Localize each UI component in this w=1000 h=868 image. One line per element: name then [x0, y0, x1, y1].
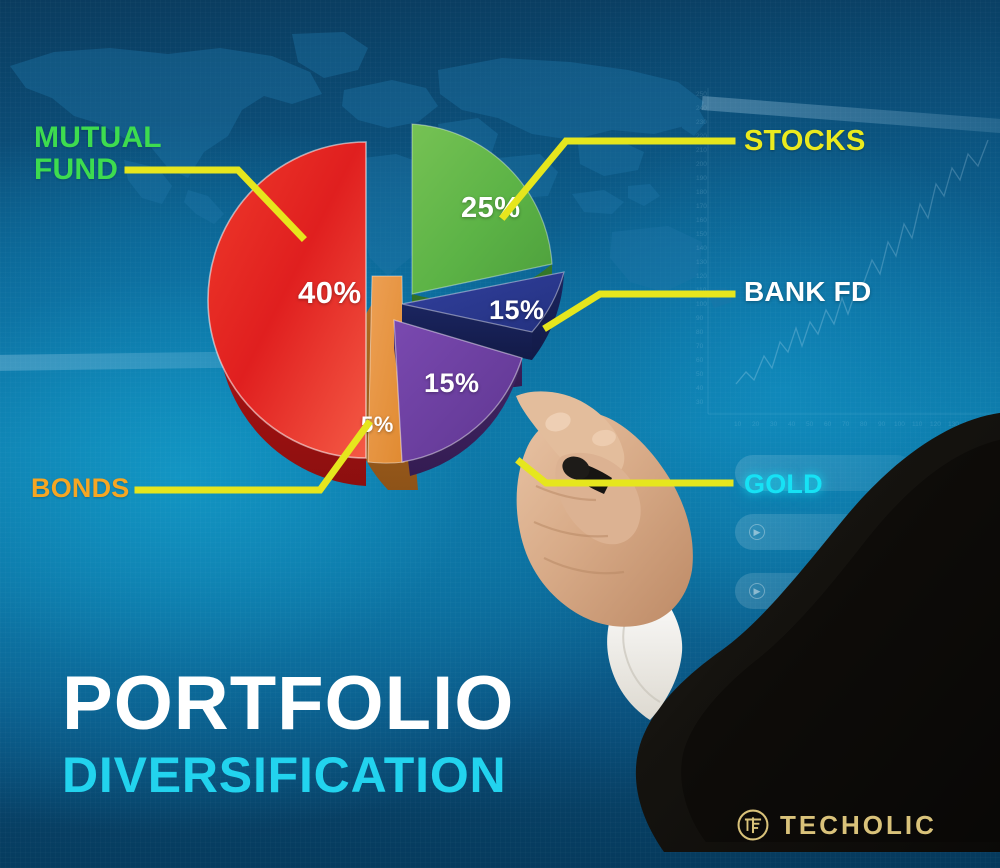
chevron-right-icon: ▶ — [749, 583, 765, 599]
svg-text:90: 90 — [878, 421, 886, 428]
brand-name: TECHOLIC — [780, 810, 937, 841]
svg-text:90: 90 — [696, 315, 704, 322]
svg-text:40: 40 — [788, 421, 796, 428]
svg-text:110: 110 — [696, 287, 707, 294]
svg-text:60: 60 — [696, 357, 704, 364]
ghost-panel-row: ▶ — [735, 514, 915, 550]
ghost-panel-row: ▶ — [735, 573, 915, 609]
svg-text:210: 210 — [696, 147, 707, 154]
callout-label-bank-fd: BANK FD — [744, 277, 871, 307]
callout-label-mutual-fund: MUTUAL FUND — [34, 122, 162, 186]
svg-text:190: 190 — [696, 175, 707, 182]
chevron-right-icon: ▶ — [749, 642, 765, 658]
infographic-canvas: 250240230 220210200 190180170 160150140 … — [0, 0, 1000, 868]
ghost-panel-row: ▶ — [735, 632, 915, 668]
svg-text:80: 80 — [696, 329, 704, 336]
svg-text:250: 250 — [696, 91, 707, 98]
callout-label-gold: GOLD — [744, 470, 823, 499]
svg-text:100: 100 — [894, 421, 905, 428]
pie-slice-mutual-fund — [208, 142, 366, 486]
headline-block: PORTFOLIO DIVERSIFICATION — [62, 666, 514, 800]
svg-text:130: 130 — [948, 421, 959, 428]
svg-text:110: 110 — [912, 421, 923, 428]
svg-text:240: 240 — [696, 105, 707, 112]
svg-text:130: 130 — [696, 259, 707, 266]
pie-chart — [190, 118, 610, 518]
headline-sub: DIVERSIFICATION — [62, 750, 514, 800]
svg-text:20: 20 — [752, 421, 760, 428]
svg-text:180: 180 — [696, 189, 707, 196]
svg-text:170: 170 — [696, 203, 707, 210]
callout-label-mutual-fund-line1: MUTUAL — [34, 122, 162, 154]
svg-text:50: 50 — [696, 371, 704, 378]
svg-text:200: 200 — [696, 161, 707, 168]
svg-text:140: 140 — [964, 421, 975, 428]
callout-label-bonds: BONDS — [31, 474, 130, 503]
svg-text:70: 70 — [696, 343, 704, 350]
techolic-monogram-icon — [736, 808, 770, 842]
svg-text:150: 150 — [980, 421, 991, 428]
svg-text:10: 10 — [734, 421, 742, 428]
svg-text:50: 50 — [806, 421, 814, 428]
chevron-right-icon: ▶ — [749, 524, 765, 540]
svg-text:60: 60 — [824, 421, 832, 428]
svg-text:140: 140 — [696, 245, 707, 252]
brand-logo: TECHOLIC — [736, 808, 937, 842]
svg-text:70: 70 — [842, 421, 850, 428]
callout-label-stocks: STOCKS — [744, 126, 866, 157]
callout-label-mutual-fund-line2: FUND — [34, 154, 162, 186]
svg-text:80: 80 — [860, 421, 868, 428]
svg-text:150: 150 — [696, 231, 707, 238]
svg-text:120: 120 — [696, 273, 707, 280]
headline-main: PORTFOLIO — [62, 666, 514, 742]
svg-text:220: 220 — [696, 133, 707, 140]
svg-text:30: 30 — [770, 421, 778, 428]
svg-text:230: 230 — [696, 119, 707, 126]
svg-text:160: 160 — [696, 217, 707, 224]
svg-text:120: 120 — [930, 421, 941, 428]
svg-text:100: 100 — [696, 301, 707, 308]
svg-text:40: 40 — [696, 385, 704, 392]
svg-text:30: 30 — [696, 399, 704, 406]
